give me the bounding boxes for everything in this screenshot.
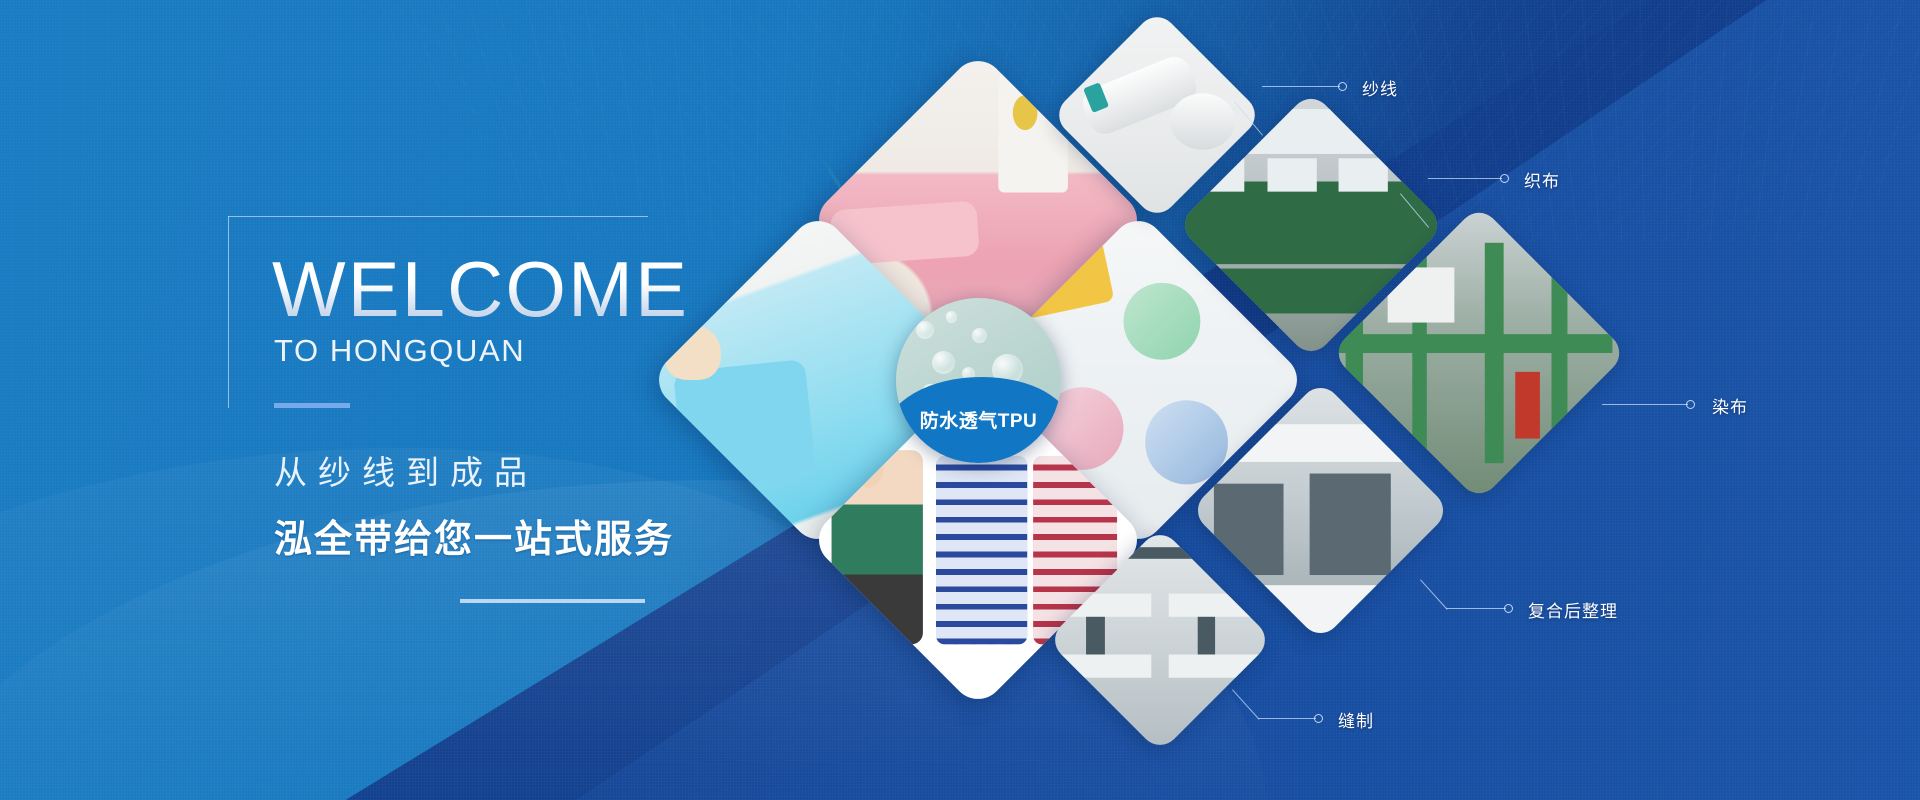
- hero-banner: WELCOME TO HONGQUAN 从纱线到成品 泓全带给您一站式服务: [0, 0, 1920, 800]
- badge-label: 防水透气TPU: [896, 406, 1061, 433]
- tagline-bold: 泓全带给您一站式服务: [274, 508, 788, 563]
- page-title: WELCOME: [272, 252, 788, 327]
- frame-top-border: [228, 216, 648, 217]
- center-badge[interactable]: 防水透气TPU: [896, 298, 1061, 463]
- tagline-light: 从纱线到成品: [274, 446, 788, 494]
- accent-rule: [274, 403, 350, 408]
- frame-left-border: [228, 216, 229, 408]
- bottom-divider: [460, 599, 645, 603]
